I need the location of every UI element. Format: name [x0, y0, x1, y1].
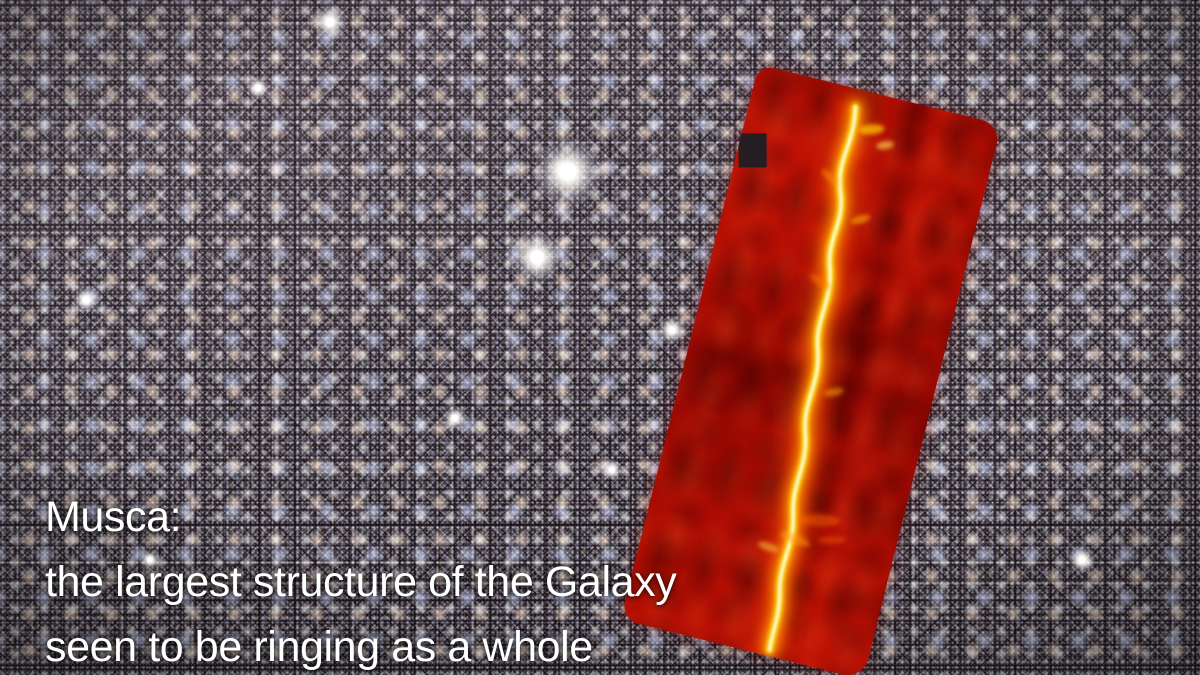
- slide-caption: Musca: the largest structure of the Gala…: [45, 496, 676, 669]
- patch-edge-notch: [739, 133, 767, 167]
- caption-line-1: Musca:: [45, 496, 676, 539]
- caption-line-3: seen to be ringing as a whole: [45, 626, 676, 669]
- slide-canvas: Musca: the largest structure of the Gala…: [0, 0, 1200, 675]
- caption-line-2: the largest structure of the Galaxy: [45, 561, 676, 604]
